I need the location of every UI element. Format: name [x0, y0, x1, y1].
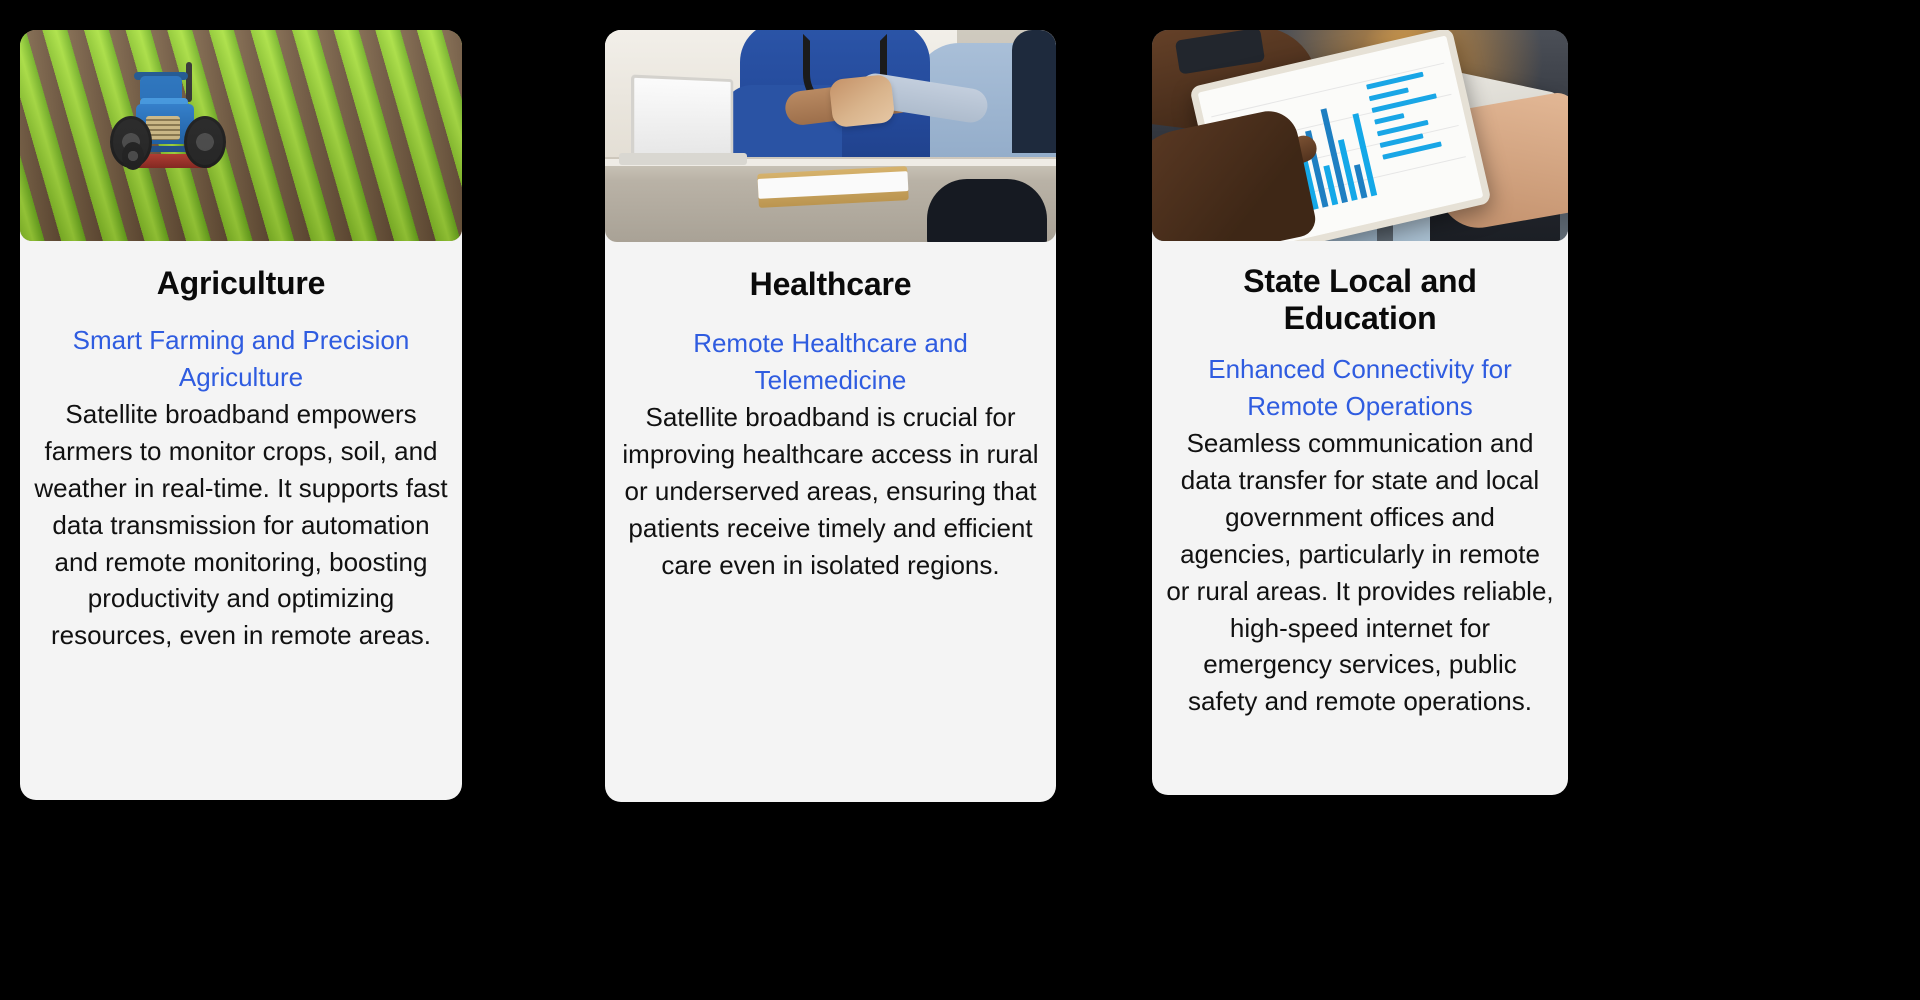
- card-image-agriculture: [20, 30, 462, 241]
- tablet-analytics-illustration: [1152, 30, 1568, 241]
- card-text-state-local-education: Seamless communication and data transfer…: [1166, 425, 1554, 720]
- card-subtitle-agriculture[interactable]: Smart Farming and Precision Agriculture: [34, 322, 448, 396]
- card-subtitle-state-local-education[interactable]: Enhanced Connectivity for Remote Operati…: [1166, 351, 1554, 425]
- card-subtitle-healthcare[interactable]: Remote Healthcare and Telemedicine: [619, 325, 1042, 399]
- card-text-agriculture: Satellite broadband empowers farmers to …: [34, 396, 448, 654]
- card-state-local-education[interactable]: State Local and Education Enhanced Conne…: [1152, 30, 1568, 795]
- card-agriculture[interactable]: Agriculture Smart Farming and Precision …: [20, 30, 462, 800]
- card-healthcare[interactable]: Healthcare Remote Healthcare and Telemed…: [605, 30, 1056, 802]
- card-body-healthcare: Healthcare Remote Healthcare and Telemed…: [605, 242, 1056, 583]
- cards-stage: Agriculture Smart Farming and Precision …: [0, 0, 1920, 1000]
- card-title-state-local-education: State Local and Education: [1166, 263, 1554, 337]
- handshake-icon: [828, 74, 895, 128]
- card-body-state-local-education: State Local and Education Enhanced Conne…: [1152, 241, 1568, 720]
- card-title-healthcare: Healthcare: [619, 266, 1042, 303]
- card-image-healthcare: [605, 30, 1056, 242]
- card-image-state-local-education: [1152, 30, 1568, 241]
- healthcare-illustration: [605, 30, 1056, 242]
- agriculture-illustration: [20, 30, 462, 241]
- card-body-agriculture: Agriculture Smart Farming and Precision …: [20, 241, 462, 654]
- card-title-agriculture: Agriculture: [34, 265, 448, 302]
- card-text-healthcare: Satellite broadband is crucial for impro…: [619, 399, 1042, 584]
